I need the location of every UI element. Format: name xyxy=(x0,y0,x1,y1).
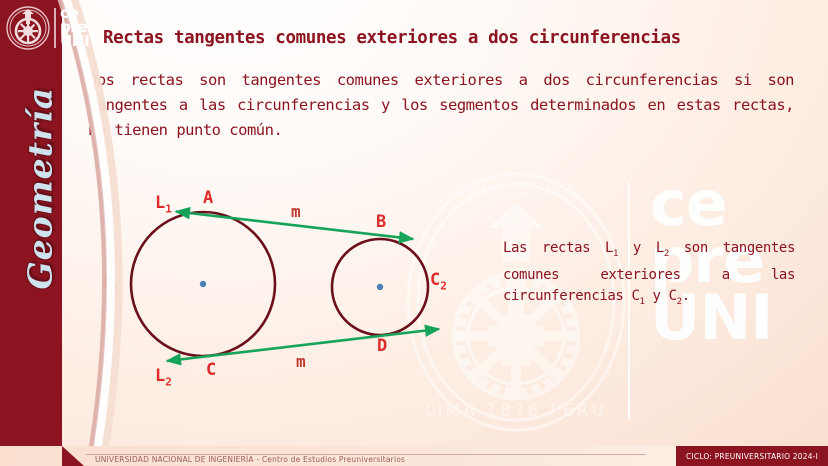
label-A: A xyxy=(203,190,213,207)
label-L2: L2 xyxy=(155,368,172,390)
svg-text:UNIVERSIDAD: UNIVERSIDAD xyxy=(457,182,576,198)
label-C1-sub: 1 xyxy=(112,283,119,296)
logo-divider xyxy=(54,8,56,48)
circle-C1-center-dot xyxy=(200,281,206,287)
slide-canvas: LIMA 1876 PERU UNIVERSIDAD ce pre UNI L1… xyxy=(0,0,828,466)
circle-C2 xyxy=(332,239,428,335)
footer-cycle-badge: CICLO: PREUNIVERSITARIO 2024-I xyxy=(676,446,828,466)
label-C2-sub: 2 xyxy=(440,279,447,292)
cepre-uni-logo-text: ce pre UNI xyxy=(60,6,89,48)
note-part1: Las rectas L xyxy=(503,240,613,256)
note-text: Las rectas L1 y L2 son tangentes comunes… xyxy=(503,238,795,313)
label-L1: L1 xyxy=(155,195,172,217)
label-B: B xyxy=(376,214,386,231)
body-paragraph: Dos rectas son tangentes comunes exterio… xyxy=(88,68,794,143)
note-part4: y C xyxy=(645,288,677,304)
logo-line-uni: UNI xyxy=(60,34,89,48)
note-part2: y L xyxy=(618,240,664,256)
uni-seal-icon xyxy=(6,6,50,50)
label-m-bottom: m xyxy=(296,353,306,370)
svg-text:LIMA 1876 PERU: LIMA 1876 PERU xyxy=(425,401,607,421)
label-C2: C2 xyxy=(430,272,447,294)
circle-C2-center-dot xyxy=(377,284,383,290)
label-C1: C1 xyxy=(102,276,119,298)
page-title: Rectas tangentes comunes exteriores a do… xyxy=(103,28,803,48)
label-L2-sub: 2 xyxy=(165,375,172,388)
watermark-line-ce: ce xyxy=(650,175,828,232)
note-part5: . xyxy=(682,288,690,304)
circle-C1 xyxy=(131,212,275,356)
subject-label-geometria: Geometría xyxy=(21,90,60,290)
footer-triangle xyxy=(62,446,84,466)
label-L1-sub: 1 xyxy=(165,202,172,215)
footer-institution: UNIVERSIDAD NACIONAL DE INGENIERÍA - Cen… xyxy=(95,455,405,464)
label-C: C xyxy=(206,362,216,379)
label-m-top: m xyxy=(291,203,301,220)
label-D: D xyxy=(377,338,387,355)
